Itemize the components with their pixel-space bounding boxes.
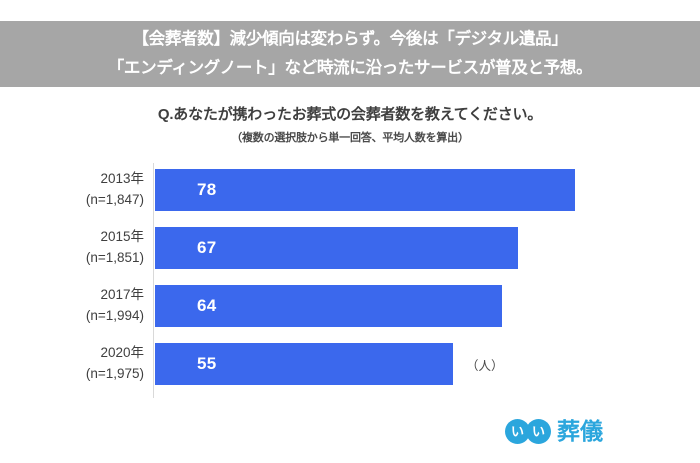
chart-row: 2015年 (n=1,851) 67: [0, 221, 700, 279]
category-label: 2017年 (n=1,994): [0, 284, 144, 326]
question-block: Q.あなたが携わったお葬式の会葬者数を教えてください。 （複数の選択肢から単一回…: [0, 104, 700, 147]
bar: 78: [155, 169, 575, 211]
logo-text: 葬儀: [557, 420, 603, 443]
category-label: 2020年 (n=1,975): [0, 342, 144, 384]
category-label-n: (n=1,851): [0, 247, 144, 268]
bar: 67: [155, 227, 518, 269]
header-banner: 【会葬者数】減少傾向は変わらず。今後は「デジタル遺品」 「エンディングノート」な…: [0, 21, 700, 87]
chart-title: Q.あなたが携わったお葬式の会葬者数を教えてください。: [0, 104, 700, 126]
brand-logo: い い 葬儀: [505, 414, 625, 448]
bar: 64: [155, 285, 502, 327]
logo-mark-icon: い い: [505, 419, 551, 444]
header-line-1: 【会葬者数】減少傾向は変わらず。今後は「デジタル遺品」: [132, 25, 567, 54]
logo-circle-icon: い: [526, 419, 551, 444]
chart-row: 2017年 (n=1,994) 64: [0, 279, 700, 337]
category-label: 2013年 (n=1,847): [0, 168, 144, 210]
category-label-year: 2015年: [100, 229, 144, 244]
category-label-year: 2017年: [100, 287, 144, 302]
bar: 55: [155, 343, 453, 385]
category-label-n: (n=1,847): [0, 189, 144, 210]
chart-row: 2020年 (n=1,975) 55: [0, 337, 700, 395]
bar-chart: 2013年 (n=1,847) 78 2015年 (n=1,851) 67 20…: [0, 163, 700, 398]
chart-subtitle: （複数の選択肢から単一回答、平均人数を算出）: [0, 129, 700, 147]
chart-row: 2013年 (n=1,847) 78: [0, 163, 700, 221]
category-label-year: 2020年: [100, 345, 144, 360]
category-label-n: (n=1,975): [0, 363, 144, 384]
bar-value-label: 55: [197, 343, 217, 385]
header-line-2: 「エンディングノート」など時流に沿ったサービスが普及と予想。: [108, 54, 593, 83]
category-label-year: 2013年: [100, 171, 144, 186]
bar-value-label: 78: [197, 169, 217, 211]
bar-value-label: 67: [197, 227, 217, 269]
category-label-n: (n=1,994): [0, 305, 144, 326]
category-label: 2015年 (n=1,851): [0, 226, 144, 268]
bar-value-label: 64: [197, 285, 217, 327]
axis-unit-label: （人）: [466, 355, 504, 374]
